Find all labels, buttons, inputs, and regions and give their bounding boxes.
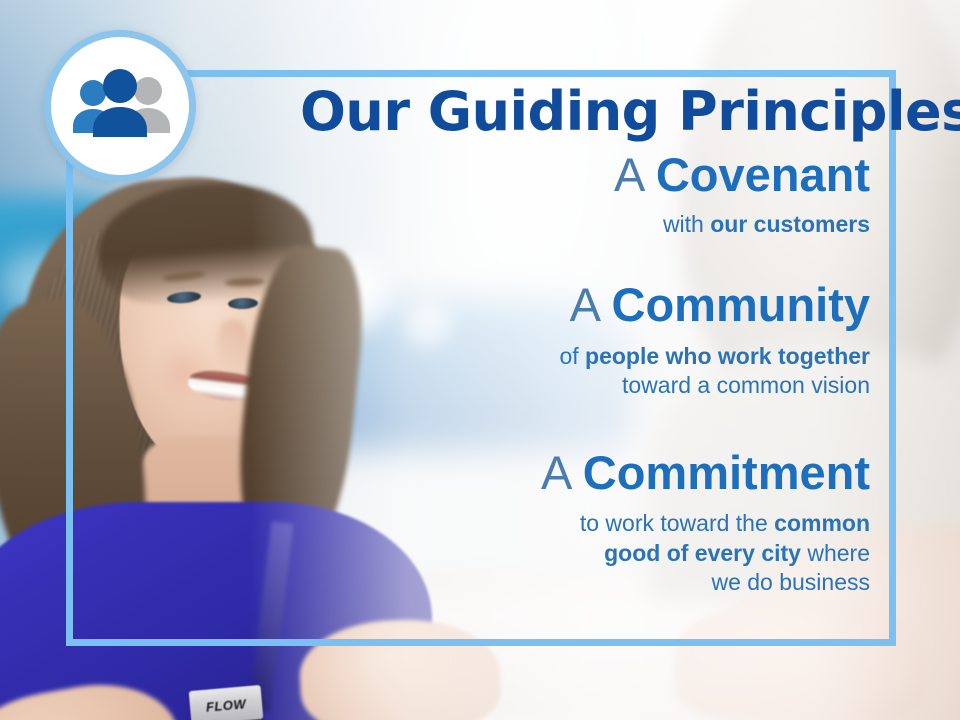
principle-block-commitment: A Commitment to work toward the commongo…: [300, 447, 870, 598]
people-group-icon: [68, 69, 172, 143]
principle-subtitle: of people who work togethertoward a comm…: [300, 342, 870, 401]
principle-article: A: [614, 148, 643, 201]
principle-heading: A Covenant: [300, 149, 870, 202]
principle-subtitle: with our customers: [300, 210, 870, 239]
principle-word: Covenant: [656, 148, 870, 201]
principle-block-community: A Community of people who work togethert…: [300, 279, 870, 401]
guiding-principles-graphic: FLOW FLOW Our Guiding Principles A: [0, 0, 960, 720]
principle-heading: A Community: [300, 279, 870, 332]
page-title: Our Guiding Principles: [300, 84, 870, 139]
principle-word: Commitment: [583, 446, 870, 499]
principle-block-covenant: A Covenant with our customers: [300, 149, 870, 239]
principle-heading: A Commitment: [300, 447, 870, 500]
people-group-badge: [44, 30, 196, 182]
principle-article: A: [570, 278, 599, 331]
copy-container: Our Guiding Principles A Covenant with o…: [300, 84, 870, 598]
employee-nose: [218, 320, 248, 368]
principle-word: Community: [612, 278, 871, 331]
name-badge-text: FLOW: [205, 696, 246, 714]
principle-subtitle: to work toward the commongood of every c…: [300, 509, 870, 597]
principle-article: A: [541, 446, 570, 499]
